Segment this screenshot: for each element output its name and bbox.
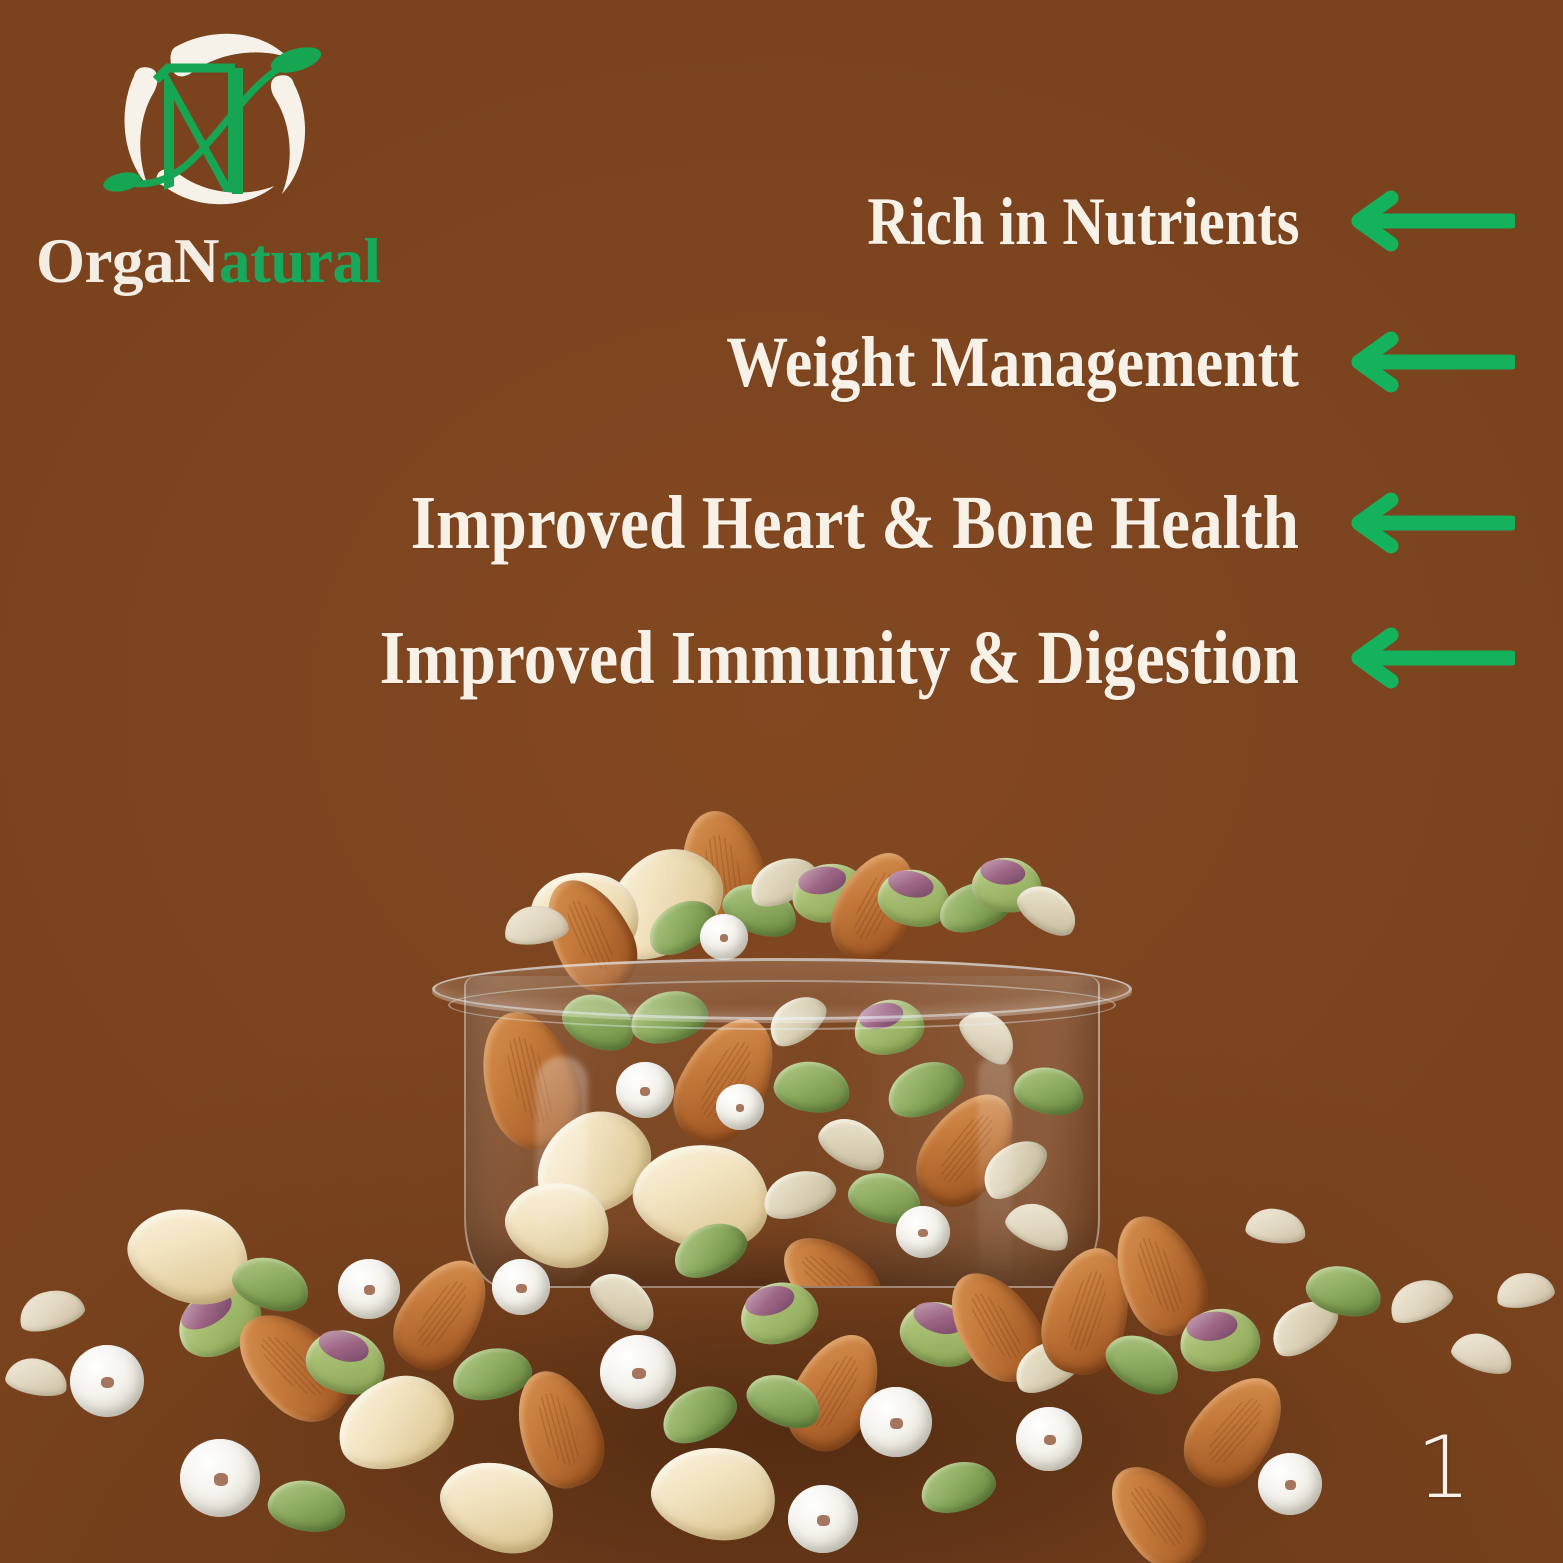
benefit-label: Rich in Nutrients [867, 187, 1299, 255]
arrow-left-icon [1345, 623, 1525, 693]
benefit-item-heart-bone-health: Improved Heart & Bone Health [125, 485, 1525, 561]
benefit-label: Improved Immunity & Digestion [380, 620, 1299, 696]
container-rim-inner [448, 980, 1116, 1030]
benefit-label: Improved Heart & Bone Health [411, 485, 1299, 561]
arrow-left-icon [1345, 327, 1525, 397]
page-number: 1 [1416, 1425, 1471, 1511]
benefit-item-rich-in-nutrients: Rich in Nutrients [125, 186, 1525, 256]
benefit-item-immunity-digestion: Improved Immunity & Digestion [125, 620, 1525, 696]
scattered-nuts [0, 1163, 1563, 1563]
benefits-list: Rich in Nutrients Weight Managementt [0, 0, 1563, 740]
benefit-item-weight-management: Weight Managementt [125, 326, 1525, 398]
arrow-left-icon [1345, 488, 1525, 558]
product-photo [0, 760, 1563, 1563]
arrow-left-icon [1345, 186, 1525, 256]
benefit-label: Weight Managementt [726, 326, 1299, 398]
poster-canvas: OrgaNatural Rich in Nutrients Weight Man… [0, 0, 1563, 1563]
